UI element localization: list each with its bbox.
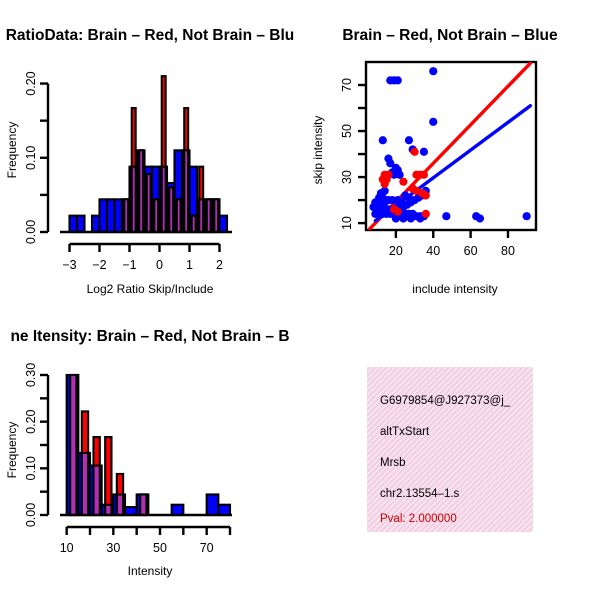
ratio-histogram-xlabel: Log2 Ratio Skip/Include <box>87 282 214 296</box>
bar-not-brain <box>207 494 219 515</box>
scatter-point-not-brain <box>429 118 437 126</box>
x-tick-label: 1 <box>186 258 193 272</box>
bar-overlap <box>192 216 196 232</box>
y-tick-label: 10 <box>340 216 354 230</box>
bar-overlap <box>105 505 111 515</box>
bar-not-brain <box>107 199 115 232</box>
x-tick-label: 2 <box>216 258 223 272</box>
scatter-points-group <box>369 63 530 229</box>
bar-overlap <box>177 199 181 232</box>
scatter-point-brain <box>390 205 398 213</box>
gene-intensity-histogram-svg: ne Itensity: Brain – Red, Not Brain – B … <box>0 300 300 600</box>
ratio-histogram-title: RatioData: Brain – Red, Not Brain – Blu <box>6 27 295 44</box>
bar-overlap <box>184 150 188 232</box>
annotation-line-pval: Pval: 2.000000 <box>380 513 457 525</box>
x-tick-label: 30 <box>106 541 120 555</box>
scatter-point-not-brain <box>405 194 413 202</box>
scatter-point-not-brain <box>399 214 407 222</box>
y-tick-label: 0.10 <box>24 146 38 170</box>
gene-intensity-histogram-ylabel: Frequency <box>5 422 19 479</box>
panel-gene-intensity-histogram: ne Itensity: Brain – Red, Not Brain – B … <box>0 300 300 600</box>
scatter-point-brain <box>410 148 418 156</box>
x-tick-label: 40 <box>426 244 440 258</box>
bar-not-brain <box>115 199 123 232</box>
y-tick-label: 0.10 <box>24 456 38 480</box>
annotation-line-gene-symbol: Mrsb <box>380 457 406 469</box>
bar-overlap <box>162 167 166 232</box>
bar-overlap <box>117 494 123 515</box>
scatter-point-brain <box>422 210 430 218</box>
scatter-point-brain <box>399 178 407 186</box>
bar-overlap <box>124 199 128 232</box>
bar-overlap <box>214 199 218 232</box>
bar-overlap <box>169 187 173 232</box>
intensity-scatter-title: Brain – Red, Not Brain – Blue <box>342 27 558 44</box>
scatter-point-brain <box>422 191 430 199</box>
bar-overlap <box>154 199 158 232</box>
scatter-point-not-brain <box>442 212 450 220</box>
trend-line <box>370 63 531 229</box>
bar-overlap <box>94 466 100 515</box>
panel-ratio-histogram: RatioData: Brain – Red, Not Brain – Blu … <box>0 0 300 300</box>
y-tick-label: 0.20 <box>24 71 38 95</box>
x-tick-label: 20 <box>389 244 403 258</box>
annotation-line-locus: chr2.13554–1.s <box>380 488 460 500</box>
bar-not-brain <box>77 216 85 232</box>
scatter-point-not-brain <box>405 136 413 144</box>
bar-overlap <box>70 375 76 515</box>
scatter-point-not-brain <box>396 171 404 179</box>
panel-intensity-scatter: Brain – Red, Not Brain – Blue 1030507020… <box>300 0 600 300</box>
intensity-scatter-xlabel: include intensity <box>412 282 497 296</box>
gene-intensity-histogram-xlabel: Intensity <box>128 564 173 578</box>
x-tick-label: 70 <box>200 541 214 555</box>
scatter-point-brain <box>420 171 428 179</box>
bar-not-brain <box>172 505 184 515</box>
bar-overlap <box>207 199 211 232</box>
x-tick-label: 10 <box>60 541 74 555</box>
ratio-histogram-plot-area: 0.000.100.20−3−2−1012 <box>24 71 232 272</box>
x-tick-label: 80 <box>501 244 515 258</box>
scatter-point-not-brain <box>420 148 428 156</box>
scatter-point-not-brain <box>379 136 387 144</box>
scatter-point-not-brain <box>476 214 484 222</box>
bar-overlap <box>199 199 203 232</box>
x-tick-label: −1 <box>122 258 136 272</box>
bar-not-brain <box>70 216 78 232</box>
gene-intensity-histogram-plot-area: 0.000.100.200.3010305070 <box>24 363 232 555</box>
annotation-box-background <box>367 367 533 532</box>
x-tick-label: −2 <box>92 258 106 272</box>
bar-overlap <box>82 453 88 515</box>
gene-intensity-histogram-title: ne Itensity: Brain – Red, Not Brain – B <box>10 328 289 345</box>
y-tick-label: 30 <box>340 170 354 184</box>
scatter-point-not-brain <box>429 67 437 75</box>
scatter-point-brain <box>381 180 389 188</box>
bar-overlap <box>147 174 151 232</box>
x-tick-label: 60 <box>464 244 478 258</box>
y-tick-label: 0.20 <box>24 409 38 433</box>
annotation-line-event-type: altTxStart <box>380 426 430 438</box>
scatter-point-not-brain <box>392 214 400 222</box>
scatter-point-not-brain <box>394 76 402 84</box>
ratio-histogram-ylabel: Frequency <box>5 122 19 179</box>
x-tick-label: 50 <box>153 541 167 555</box>
y-tick-label: 50 <box>340 124 354 138</box>
intensity-scatter-plot-area: 1030507020406080 <box>340 62 536 258</box>
intensity-scatter-ylabel: skip intensity <box>311 116 325 185</box>
x-tick-label: 0 <box>156 258 163 272</box>
scatter-point-not-brain <box>523 212 531 220</box>
y-tick-label: 0.30 <box>24 363 38 387</box>
bar-overlap <box>139 150 143 232</box>
annotation-box-svg: G6979854@J927373@j_ altTxStart Mrsb chr2… <box>300 300 600 600</box>
x-tick-label: −3 <box>62 258 76 272</box>
bar-not-brain <box>100 199 108 232</box>
y-tick-label: 0.00 <box>24 503 38 527</box>
intensity-scatter-svg: Brain – Red, Not Brain – Blue 1030507020… <box>300 0 600 300</box>
scatter-point-not-brain <box>407 214 415 222</box>
bar-not-brain <box>220 216 228 232</box>
annotation-line-gene-id: G6979854@J927373@j_ <box>380 395 511 407</box>
bar-not-brain <box>218 505 230 515</box>
bar-overlap <box>132 167 136 232</box>
bar-not-brain <box>92 216 100 232</box>
panel-annotation-box: G6979854@J927373@j_ altTxStart Mrsb chr2… <box>300 300 600 600</box>
bar-overlap <box>140 494 146 515</box>
bar-brain <box>105 437 111 515</box>
y-tick-label: 0.00 <box>24 220 38 244</box>
y-tick-label: 70 <box>340 78 354 92</box>
plot-canvas: RatioData: Brain – Red, Not Brain – Blu … <box>0 0 600 600</box>
ratio-histogram-svg: RatioData: Brain – Red, Not Brain – Blu … <box>0 0 300 300</box>
